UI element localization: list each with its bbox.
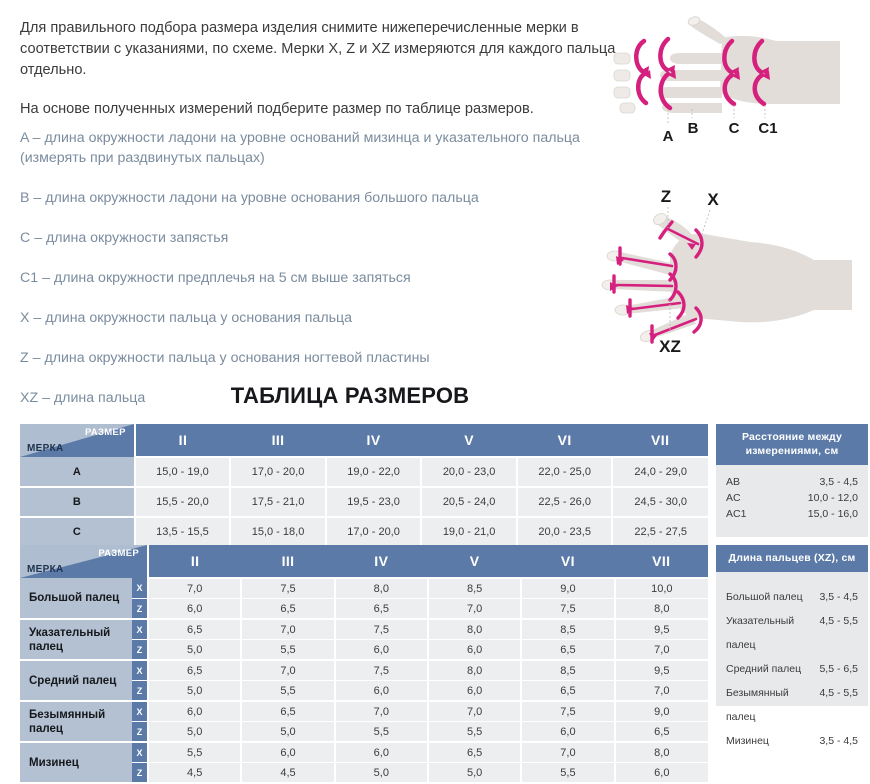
diagram1-label-c: C — [729, 120, 740, 137]
cell-a-vii: 24,0 - 29,0 — [612, 457, 708, 487]
cell-index-z-iv: 6,0 — [335, 640, 428, 661]
cell-thumb-z-iii: 6,5 — [241, 599, 334, 620]
cell-ring-x-v: 7,0 — [428, 701, 521, 722]
cell-a-iv: 19,0 - 22,0 — [326, 457, 422, 487]
measure-definition-c: C – длина окружности запястья — [20, 228, 620, 248]
cell-index-z-ii: 5,0 — [148, 640, 241, 661]
cell-index-x-iv: 7,5 — [335, 619, 428, 640]
cell-middle-x-ii: 6,5 — [148, 660, 241, 681]
list-item: AC 10,0 - 12,0 — [726, 490, 858, 506]
side-lengths-title: Длина пальцев (XZ), см — [716, 545, 868, 572]
cell-thumb-x-vii: 10,0 — [615, 578, 708, 599]
table-row: Указательный палец X 6,5 7,0 7,5 8,0 8,5… — [20, 619, 708, 640]
cell-middle-x-iv: 7,5 — [335, 660, 428, 681]
cell-index-z-iii: 5,5 — [241, 640, 334, 661]
cell-b-v: 20,5 - 24,0 — [421, 487, 517, 517]
measure-definition-x: X – длина окружности пальца у основания … — [20, 308, 620, 328]
cell-thumb-x-iv: 8,0 — [335, 578, 428, 599]
list-item: Средний палец 5,5 - 6,5 — [726, 657, 858, 681]
cell-thumb-z-vi: 7,5 — [521, 599, 614, 620]
length-name-ring: Безымянный палец — [726, 681, 819, 729]
cell-ring-z-ii: 5,0 — [148, 722, 241, 743]
cell-index-z-vi: 6,5 — [521, 640, 614, 661]
cell-thumb-x-v: 8,5 — [428, 578, 521, 599]
list-item: AB 3,5 - 4,5 — [726, 474, 858, 490]
corner-label-merka-fingers: МЕРКА — [27, 564, 64, 575]
cell-index-x-v: 8,0 — [428, 619, 521, 640]
cell-ring-z-iii: 5,0 — [241, 722, 334, 743]
table-main-header-row: МЕРКА РАЗМЕР II III IV V VI VII — [20, 424, 708, 457]
cell-index-z-v: 6,0 — [428, 640, 521, 661]
cell-b-vi: 22,5 - 26,0 — [517, 487, 613, 517]
cell-ring-x-vi: 7,5 — [521, 701, 614, 722]
xz-label-z-index: Z — [132, 640, 148, 661]
finger-label-thumb: Большой палец — [20, 578, 132, 619]
xz-label-z-thumb: Z — [132, 599, 148, 620]
list-item: AC1 15,0 - 16,0 — [726, 506, 858, 522]
table-fingers-header-row: МЕРКА РАЗМЕР II III IV V VI VII — [20, 545, 708, 578]
cell-b-iii: 17,5 - 21,0 — [230, 487, 326, 517]
table-fingers-size-header-7: VII — [615, 545, 708, 578]
measure-definition-b: B – длина окружности ладони на уровне ос… — [20, 188, 620, 208]
cell-index-z-vii: 7,0 — [615, 640, 708, 661]
distance-name-ac: AC — [726, 490, 741, 506]
cell-pinky-z-v: 5,0 — [428, 763, 521, 784]
cell-ring-z-vi: 6,0 — [521, 722, 614, 743]
table-fingers-size-header-6: VI — [521, 545, 614, 578]
diagram1-label-a: A — [663, 128, 674, 145]
table-row: Большой палец X 7,0 7,5 8,0 8,5 9,0 10,0 — [20, 578, 708, 599]
table-main-size-header-5: V — [421, 424, 517, 457]
table-fingers-size-header-5: V — [428, 545, 521, 578]
cell-ring-z-v: 5,5 — [428, 722, 521, 743]
length-value-middle: 5,5 - 6,5 — [819, 657, 858, 681]
cell-index-x-iii: 7,0 — [241, 619, 334, 640]
corner-label-razmer: РАЗМЕР — [85, 427, 126, 438]
table-fingers-size-header-3: III — [241, 545, 334, 578]
length-name-thumb: Большой палец — [726, 585, 803, 609]
finger-label-pinky: Мизинец — [20, 742, 132, 783]
hand-silhouette-2 — [602, 211, 852, 343]
cell-middle-x-vii: 9,5 — [615, 660, 708, 681]
xz-label-x-ring: X — [132, 701, 148, 722]
intro-block: Для правильного подбора размера изделия … — [20, 18, 620, 138]
intro-paragraph-2: На основе полученных измерений подберите… — [20, 99, 620, 120]
corner-label-razmer-fingers: РАЗМЕР — [98, 548, 139, 559]
xz-label-x-thumb: X — [132, 578, 148, 599]
diagram2-label-xz: XZ — [659, 337, 681, 356]
cell-c-vii: 22,5 - 27,5 — [612, 517, 708, 547]
cell-pinky-z-iii: 4,5 — [241, 763, 334, 784]
length-name-index: Указательный палец — [726, 609, 819, 657]
table-row: Средний палец X 6,5 7,0 7,5 8,0 8,5 9,5 — [20, 660, 708, 681]
cell-index-x-ii: 6,5 — [148, 619, 241, 640]
cell-pinky-x-vii: 8,0 — [615, 742, 708, 763]
cell-a-vi: 22,0 - 25,0 — [517, 457, 613, 487]
cell-thumb-x-ii: 7,0 — [148, 578, 241, 599]
cell-ring-x-ii: 6,0 — [148, 701, 241, 722]
distance-value-ac1: 15,0 - 16,0 — [808, 506, 858, 522]
cell-middle-z-v: 6,0 — [428, 681, 521, 702]
measure-definition-z: Z – длина окружности пальца у основания … — [20, 348, 620, 368]
table-fingers-size-header-2: II — [148, 545, 241, 578]
finger-label-index: Указательный палец — [20, 619, 132, 660]
table-fingers-size-header-4: IV — [335, 545, 428, 578]
cell-pinky-z-iv: 5,0 — [335, 763, 428, 784]
length-value-index: 4,5 - 5,5 — [819, 609, 858, 657]
table-main-size-header-3: III — [230, 424, 326, 457]
list-item: Мизинец 3,5 - 4,5 — [726, 729, 858, 753]
size-table-fingers: МЕРКА РАЗМЕР II III IV V VI VII Большой … — [20, 545, 708, 784]
row-label-b: B — [20, 487, 135, 517]
xz-label-x-index: X — [132, 619, 148, 640]
cell-pinky-x-v: 6,5 — [428, 742, 521, 763]
cell-pinky-z-vi: 5,5 — [521, 763, 614, 784]
list-item: Большой палец 3,5 - 4,5 — [726, 585, 858, 609]
table-row: C 13,5 - 15,5 15,0 - 18,0 17,0 - 20,0 19… — [20, 517, 708, 547]
side-table-distances: Расстояние между измерениями, см AB 3,5 … — [716, 424, 868, 527]
row-label-c: C — [20, 517, 135, 547]
finger-label-ring: Безымянный палец — [20, 701, 132, 742]
cell-ring-x-iv: 7,0 — [335, 701, 428, 722]
cell-ring-z-vii: 6,5 — [615, 722, 708, 743]
table-main-size-header-2: II — [135, 424, 231, 457]
cell-pinky-x-iii: 6,0 — [241, 742, 334, 763]
table-row: Безымянный палец X 6,0 6,5 7,0 7,0 7,5 9… — [20, 701, 708, 722]
cell-middle-z-vii: 7,0 — [615, 681, 708, 702]
table-row: A 15,0 - 19,0 17,0 - 20,0 19,0 - 22,0 20… — [20, 457, 708, 487]
cell-middle-z-iv: 6,0 — [335, 681, 428, 702]
cell-ring-z-iv: 5,5 — [335, 722, 428, 743]
hand-diagram-xz-icon: Z X XZ — [600, 182, 868, 362]
cell-middle-x-vi: 8,5 — [521, 660, 614, 681]
corner-header-cell-fingers: МЕРКА РАЗМЕР — [20, 545, 148, 578]
cell-pinky-x-ii: 5,5 — [148, 742, 241, 763]
distance-name-ab: AB — [726, 474, 740, 490]
cell-thumb-x-vi: 9,0 — [521, 578, 614, 599]
measure-definition-c1: C1 – длина окружности предплечья на 5 см… — [20, 268, 620, 288]
length-value-thumb: 3,5 - 4,5 — [819, 585, 858, 609]
cell-pinky-x-iv: 6,0 — [335, 742, 428, 763]
cell-b-vii: 24,5 - 30,0 — [612, 487, 708, 517]
distance-value-ac: 10,0 - 12,0 — [808, 490, 858, 506]
xz-label-z-middle: Z — [132, 681, 148, 702]
cell-c-iv: 17,0 - 20,0 — [326, 517, 422, 547]
table-row: B 15,5 - 20,0 17,5 - 21,0 19,5 - 23,0 20… — [20, 487, 708, 517]
cell-a-v: 20,0 - 23,0 — [421, 457, 517, 487]
cell-a-iii: 17,0 - 20,0 — [230, 457, 326, 487]
intro-paragraph-1: Для правильного подбора размера изделия … — [20, 18, 620, 81]
cell-b-iv: 19,5 - 23,0 — [326, 487, 422, 517]
cell-ring-x-vii: 9,0 — [615, 701, 708, 722]
diagram1-label-c1: C1 — [758, 120, 777, 137]
side-lengths-body: Большой палец 3,5 - 4,5 Указательный пал… — [716, 572, 868, 706]
cell-a-ii: 15,0 - 19,0 — [135, 457, 231, 487]
corner-header-cell: МЕРКА РАЗМЕР — [20, 424, 135, 457]
diagram2-label-x: X — [707, 190, 719, 209]
distance-name-ac1: AC1 — [726, 506, 746, 522]
cell-pinky-z-vii: 6,0 — [615, 763, 708, 784]
diagram1-label-b: B — [688, 120, 699, 137]
table-main-size-header-7: VII — [612, 424, 708, 457]
hand-diagram-abc-icon: A B C C1 — [610, 8, 868, 158]
table-main-size-header-4: IV — [326, 424, 422, 457]
xz-label-z-ring: Z — [132, 722, 148, 743]
cell-middle-z-ii: 5,0 — [148, 681, 241, 702]
cell-middle-x-v: 8,0 — [428, 660, 521, 681]
cell-index-x-vi: 8,5 — [521, 619, 614, 640]
cell-thumb-z-ii: 6,0 — [148, 599, 241, 620]
cell-pinky-z-ii: 4,5 — [148, 763, 241, 784]
length-value-ring: 4,5 - 5,5 — [819, 681, 858, 729]
finger-label-middle: Средний палец — [20, 660, 132, 701]
measure-definition-a: A – длина окружности ладони на уровне ос… — [20, 128, 620, 168]
cell-thumb-z-iv: 6,5 — [335, 599, 428, 620]
cell-c-ii: 13,5 - 15,5 — [135, 517, 231, 547]
diagram2-label-z: Z — [661, 187, 671, 206]
list-item: Указательный палец 4,5 - 5,5 — [726, 609, 858, 657]
side-distances-title: Расстояние между измерениями, см — [716, 424, 868, 465]
cell-middle-x-iii: 7,0 — [241, 660, 334, 681]
length-value-pinky: 3,5 - 4,5 — [819, 729, 858, 753]
cell-ring-x-iii: 6,5 — [241, 701, 334, 722]
cell-pinky-x-vi: 7,0 — [521, 742, 614, 763]
page-title: ТАБЛИЦА РАЗМЕРОВ — [0, 383, 700, 409]
distance-value-ab: 3,5 - 4,5 — [819, 474, 858, 490]
xz-label-z-pinky: Z — [132, 763, 148, 784]
cell-index-x-vii: 9,5 — [615, 619, 708, 640]
row-label-a: A — [20, 457, 135, 487]
xz-label-x-middle: X — [132, 660, 148, 681]
cell-thumb-z-vii: 8,0 — [615, 599, 708, 620]
table-main-size-header-6: VI — [517, 424, 613, 457]
list-item: Безымянный палец 4,5 - 5,5 — [726, 681, 858, 729]
corner-label-merka: МЕРКА — [27, 443, 64, 454]
length-name-pinky: Мизинец — [726, 729, 769, 753]
side-table-finger-lengths: Длина пальцев (XZ), см Большой палец 3,5… — [716, 545, 868, 713]
side-distances-body: AB 3,5 - 4,5 AC 10,0 - 12,0 AC1 15,0 - 1… — [716, 465, 868, 537]
cell-b-ii: 15,5 - 20,0 — [135, 487, 231, 517]
length-name-middle: Средний палец — [726, 657, 801, 681]
cell-middle-z-iii: 5,5 — [241, 681, 334, 702]
table-row: Мизинец X 5,5 6,0 6,0 6,5 7,0 8,0 — [20, 742, 708, 763]
cell-thumb-x-iii: 7,5 — [241, 578, 334, 599]
cell-middle-z-vi: 6,5 — [521, 681, 614, 702]
cell-c-v: 19,0 - 21,0 — [421, 517, 517, 547]
cell-thumb-z-v: 7,0 — [428, 599, 521, 620]
xz-label-x-pinky: X — [132, 742, 148, 763]
cell-c-vi: 20,0 - 23,5 — [517, 517, 613, 547]
cell-c-iii: 15,0 - 18,0 — [230, 517, 326, 547]
